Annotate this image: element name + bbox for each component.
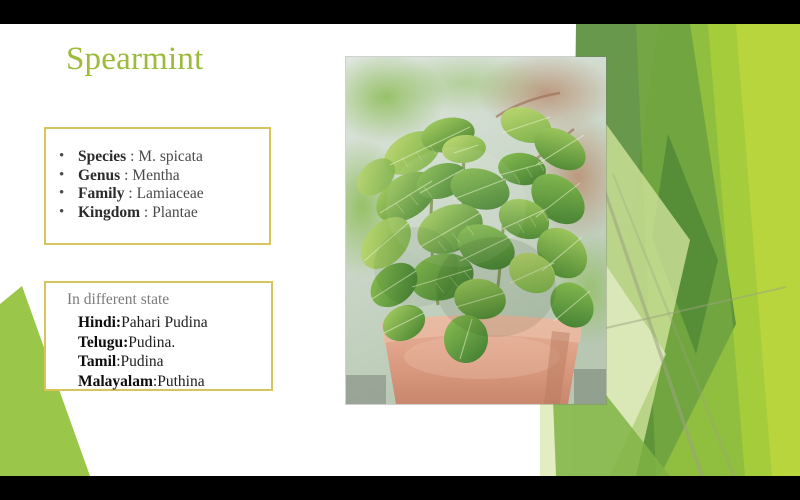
taxonomy-list: •Species : M. spicata •Genus : Mentha •F… (46, 129, 269, 222)
taxonomy-separator: : (120, 167, 132, 184)
regional-names-box: In different state Hindi:Pahari Pudina T… (44, 281, 273, 391)
list-item: Malayalam:Puthina (78, 372, 271, 392)
bullet-icon: • (59, 166, 64, 185)
list-item: Tamil:Pudina (78, 352, 271, 372)
list-item: •Kingdom : Plantae (56, 204, 269, 223)
taxonomy-label: Genus (78, 167, 120, 184)
bullet-icon: • (59, 203, 64, 222)
regional-names-heading: In different state (67, 291, 169, 309)
taxonomy-label: Family (78, 185, 125, 202)
taxonomy-value: Plantae (152, 204, 198, 221)
list-item: •Family : Lamiaceae (56, 185, 269, 204)
letterbox-bottom (0, 476, 800, 500)
taxonomy-separator: : (126, 148, 138, 165)
presentation-slide: Spearmint •Species : M. spicata •Genus :… (0, 0, 800, 500)
bullet-icon: • (59, 147, 64, 166)
language-label: Telugu: (78, 334, 128, 351)
taxonomy-separator: : (140, 204, 152, 221)
language-value: Pahari Pudina (121, 314, 208, 331)
taxonomy-value: M. spicata (138, 148, 203, 165)
bullet-icon: • (59, 184, 64, 203)
language-label: Hindi: (78, 314, 121, 331)
taxonomy-box: •Species : M. spicata •Genus : Mentha •F… (44, 127, 271, 245)
language-value: :Puthina (153, 373, 205, 390)
language-label: Tamil (78, 353, 116, 370)
letterbox-top (0, 0, 800, 24)
list-item: •Genus : Mentha (56, 167, 269, 186)
taxonomy-label: Kingdom (78, 204, 140, 221)
taxonomy-separator: : (125, 185, 137, 202)
plant-photo (346, 57, 606, 404)
language-label: Malayalam (78, 373, 153, 390)
taxonomy-value: Lamiaceae (137, 185, 204, 202)
taxonomy-label: Species (78, 148, 126, 165)
language-value: Pudina. (128, 334, 175, 351)
page-title: Spearmint (66, 41, 203, 78)
language-value: :Pudina (116, 353, 163, 370)
list-item: •Species : M. spicata (56, 148, 269, 167)
taxonomy-value: Mentha (132, 167, 179, 184)
list-item: Telugu:Pudina. (78, 333, 271, 353)
plant-photo-image (346, 57, 606, 404)
list-item: Hindi:Pahari Pudina (78, 313, 271, 333)
slide-canvas: Spearmint •Species : M. spicata •Genus :… (0, 24, 800, 476)
